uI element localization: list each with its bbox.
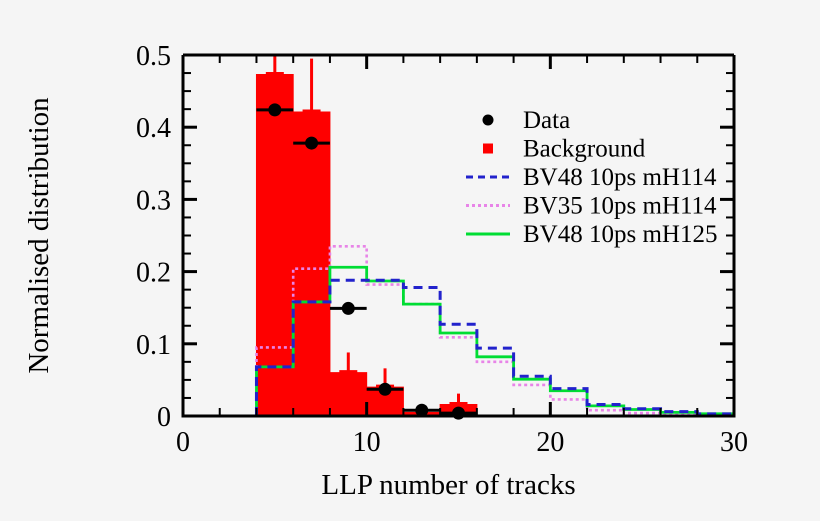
x-tick-label: 30 — [720, 427, 748, 458]
legend-label: Data — [523, 107, 570, 134]
x-tick-label: 10 — [353, 427, 381, 458]
plot-canvas: 010203000.10.20.30.40.5LLP number of tra… — [0, 0, 820, 521]
data-point-marker — [379, 383, 392, 396]
legend-label: BV35 10ps mH114 — [523, 193, 717, 220]
y-axis-title: Normalised distribution — [23, 97, 55, 374]
data-point-marker — [342, 302, 355, 315]
legend-label: BV48 10ps mH125 — [523, 221, 717, 248]
legend-label: BV48 10ps mH114 — [523, 164, 717, 191]
y-tick-label: 0 — [157, 402, 171, 433]
data-point-marker — [452, 407, 465, 420]
y-tick-label: 0.2 — [136, 258, 171, 289]
y-tick-label: 0.1 — [136, 330, 171, 361]
y-tick-label: 0.4 — [136, 113, 171, 144]
data-point-marker — [305, 137, 318, 150]
legend-marker-circle — [483, 115, 494, 126]
x-tick-label: 0 — [176, 427, 190, 458]
legend-marker-square — [483, 144, 493, 154]
data-point-marker — [268, 103, 281, 116]
legend-label: Background — [523, 136, 646, 163]
chart-figure: 010203000.10.20.30.40.5LLP number of tra… — [0, 0, 820, 521]
x-axis-title: LLP number of tracks — [321, 469, 575, 501]
x-tick-label: 20 — [536, 427, 564, 458]
y-tick-label: 0.3 — [136, 185, 171, 216]
y-tick-label: 0.5 — [136, 41, 171, 72]
